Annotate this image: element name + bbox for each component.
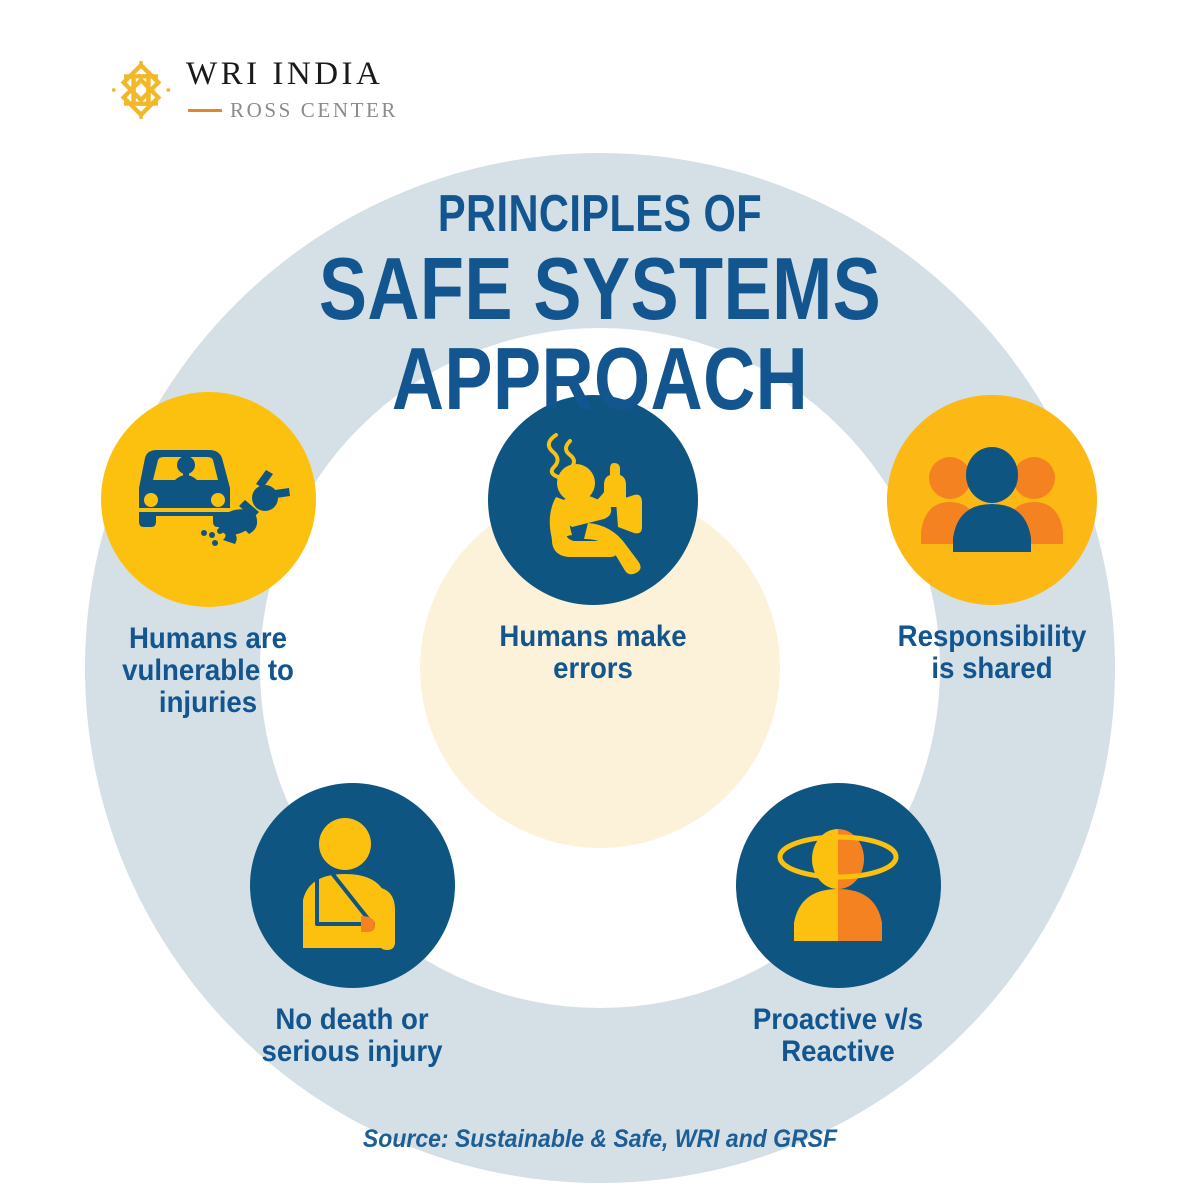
person-halo-split-icon <box>763 823 913 948</box>
principle-errors[interactable]: Humans make errors <box>423 395 763 685</box>
principle-vulnerable-disc <box>101 392 316 607</box>
principle-no-death-disc <box>250 783 455 988</box>
logo-divider-dash <box>188 109 222 112</box>
source-caption: Source: Sustainable & Safe, WRI and GRSF <box>48 1125 1152 1154</box>
principle-vulnerable-label: Humans are vulnerable to injuries <box>52 623 365 718</box>
principle-responsibility[interactable]: Responsibility is shared <box>822 395 1162 685</box>
logo-subbrand: ROSS CENTER <box>230 100 398 121</box>
principle-responsibility-disc <box>887 395 1097 605</box>
principle-proactive-disc <box>736 783 941 988</box>
title-main: SAFE SYSTEMS APPROACH <box>108 244 1092 424</box>
page-title: PRINCIPLES OF SAFE SYSTEMS APPROACH <box>0 188 1200 424</box>
title-kicker: PRINCIPLES OF <box>120 188 1080 240</box>
principle-vulnerable[interactable]: Humans are vulnerable to injuries <box>38 392 378 718</box>
car-crash-pedestrian-icon <box>123 430 293 570</box>
principle-errors-label: Humans make errors <box>437 621 750 685</box>
principle-no-death[interactable]: No death or serious injury <box>182 783 522 1068</box>
person-arm-sling-icon <box>285 816 420 956</box>
three-people-group-icon <box>917 440 1067 560</box>
wri-knot-icon <box>110 59 172 121</box>
logo-wordmark: WRI INDIA <box>186 58 398 91</box>
wri-india-logo: WRI INDIA ROSS CENTER <box>110 58 398 121</box>
drunk-driver-seated-icon <box>518 423 668 578</box>
principle-responsibility-label: Responsibility is shared <box>836 621 1149 685</box>
principle-proactive[interactable]: Proactive v/s Reactive <box>668 783 1008 1068</box>
principle-no-death-label: No death or serious injury <box>196 1004 509 1068</box>
principle-proactive-label: Proactive v/s Reactive <box>682 1004 995 1068</box>
